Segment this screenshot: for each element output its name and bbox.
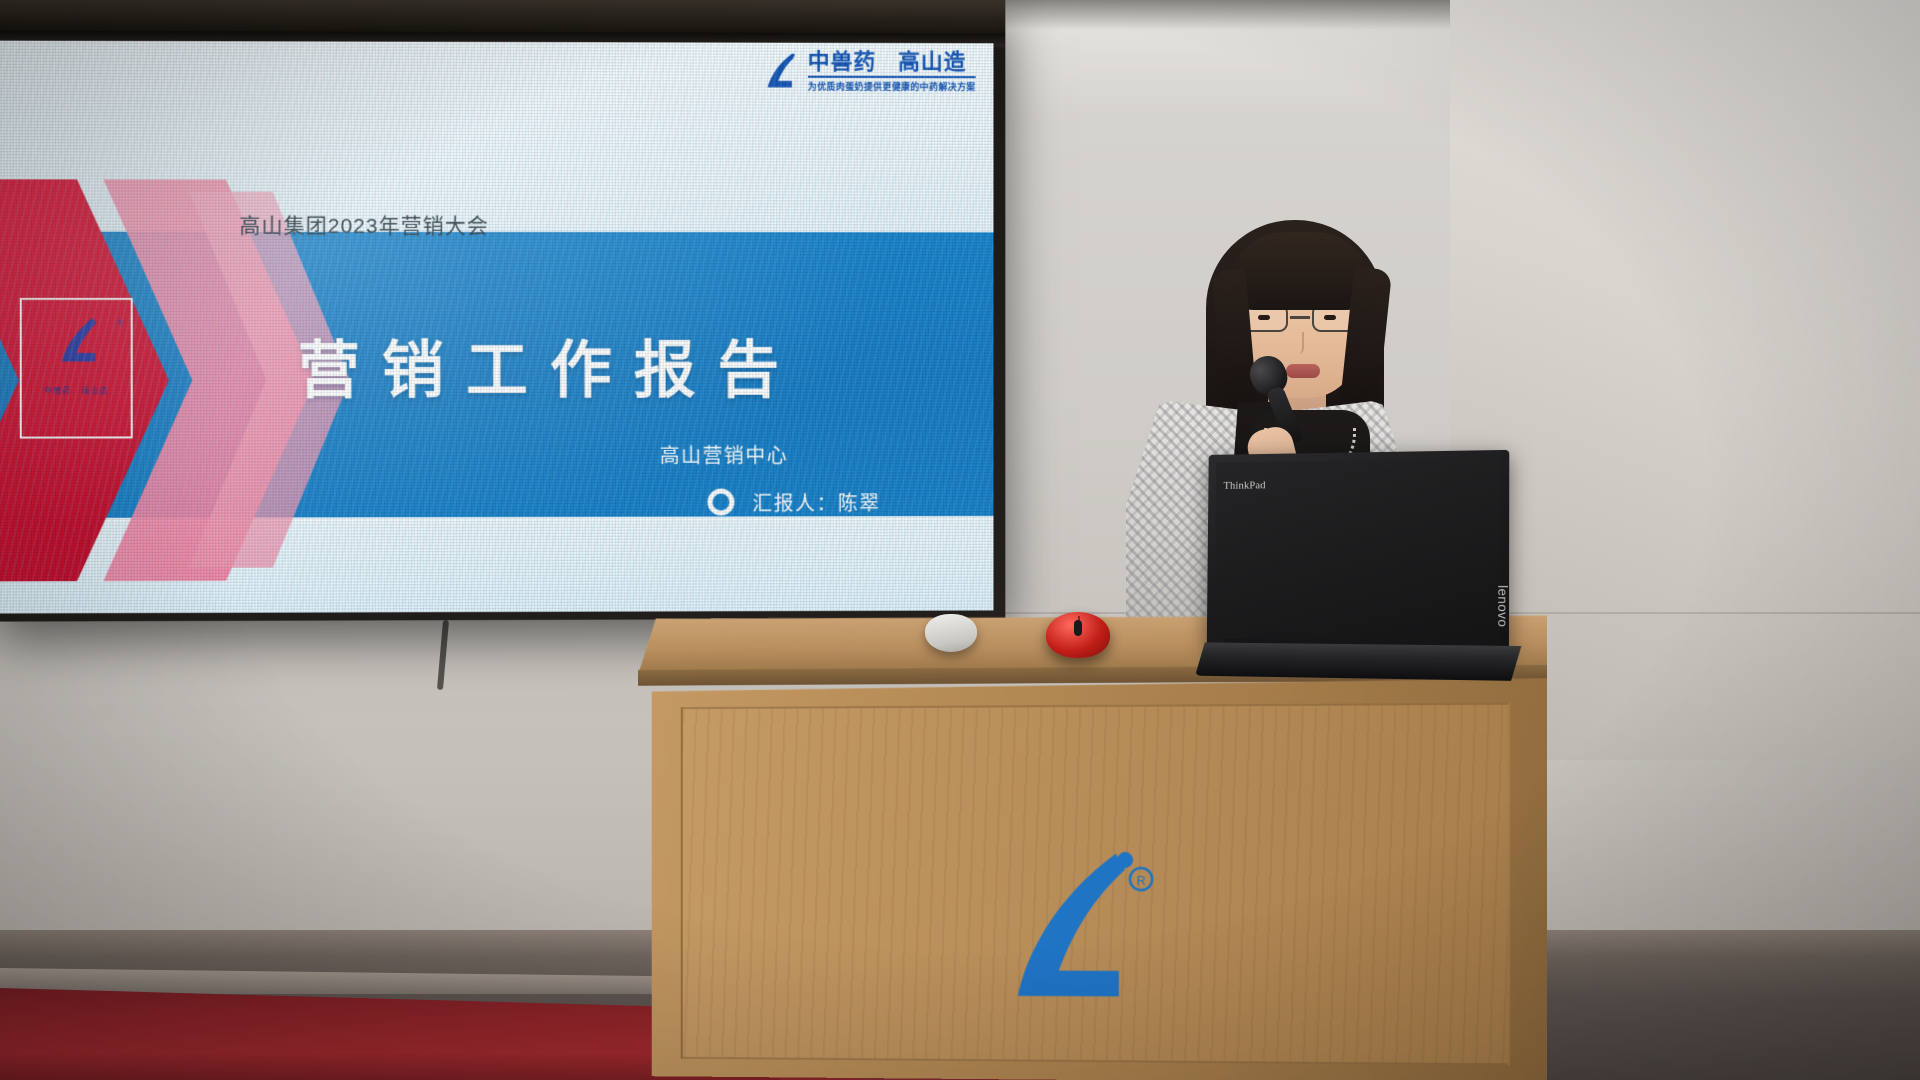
screen-bezel-top bbox=[0, 0, 1005, 33]
mouse-scroll-wheel[interactable] bbox=[1074, 620, 1082, 636]
thinkpad-logo: ThinkPad bbox=[1223, 479, 1265, 491]
thinkpad-wordmark: ThinkPad bbox=[1223, 479, 1265, 491]
gaoshan-l-logo-icon bbox=[755, 51, 801, 97]
eyeglass-bridge bbox=[1290, 316, 1310, 319]
podium-body: R bbox=[652, 678, 1547, 1080]
slide-header-logo: 中兽药 高山造 为优质肉蛋奶提供更健康的中药解决方案 bbox=[755, 51, 976, 97]
led-screen-frame: ® 中兽药 高山造 bbox=[0, 0, 1005, 622]
emblem-caption: 中兽药 高山造 bbox=[44, 385, 109, 396]
logo-word-left: 中兽药 bbox=[808, 51, 877, 73]
slide-title: 营销工作报告 bbox=[298, 320, 801, 410]
laptop-base[interactable] bbox=[1195, 642, 1521, 681]
presenter-nose bbox=[1292, 332, 1304, 354]
emblem-text-right: 高山造 bbox=[81, 385, 108, 396]
presentation-slide: ® 中兽药 高山造 bbox=[0, 41, 993, 614]
slide-header-logo-words: 中兽药 高山造 bbox=[808, 51, 976, 73]
registered-mark-icon: ® bbox=[117, 318, 124, 328]
slide-presenter-name: 汇报人：陈翠 bbox=[752, 487, 880, 516]
wireless-mouse-red[interactable] bbox=[1046, 612, 1110, 658]
lenovo-wordmark: lenovo bbox=[1495, 585, 1511, 627]
slide-presenter-row: 汇报人：陈翠 bbox=[708, 487, 881, 516]
led-screen-display: ® 中兽药 高山造 bbox=[0, 41, 993, 614]
logo-word-right: 高山造 bbox=[898, 51, 966, 73]
presenter-mouth bbox=[1286, 364, 1320, 378]
svg-text:R: R bbox=[1137, 873, 1146, 887]
slide-department: 高山营销中心 bbox=[660, 440, 788, 469]
presenter-hair-front bbox=[1230, 232, 1370, 310]
logo-divider bbox=[808, 76, 976, 78]
slide-emblem: ® 中兽药 高山造 bbox=[20, 298, 133, 439]
logo-tagline: 为优质肉蛋奶提供更健康的中药解决方案 bbox=[808, 79, 976, 92]
conference-room-photo: ® 中兽药 高山造 bbox=[0, 0, 1920, 1080]
gaoshan-l-logo-icon bbox=[40, 308, 113, 380]
presenter-eye-left bbox=[1258, 315, 1270, 320]
laptop-lid: ThinkPad lenovo bbox=[1207, 450, 1510, 654]
wireless-mouse-white[interactable] bbox=[925, 614, 977, 652]
presenter-eye-right bbox=[1324, 315, 1336, 320]
ring-bullet-icon bbox=[708, 489, 735, 516]
emblem-text-left: 中兽药 bbox=[44, 385, 71, 396]
thinkpad-laptop[interactable]: ThinkPad lenovo bbox=[1195, 450, 1522, 685]
gaoshan-l-logo-icon: R bbox=[971, 841, 1160, 1032]
slide-header-logo-text: 中兽药 高山造 为优质肉蛋奶提供更健康的中药解决方案 bbox=[808, 51, 976, 93]
slide-subtitle: 高山集团2023年营销大会 bbox=[239, 210, 488, 240]
